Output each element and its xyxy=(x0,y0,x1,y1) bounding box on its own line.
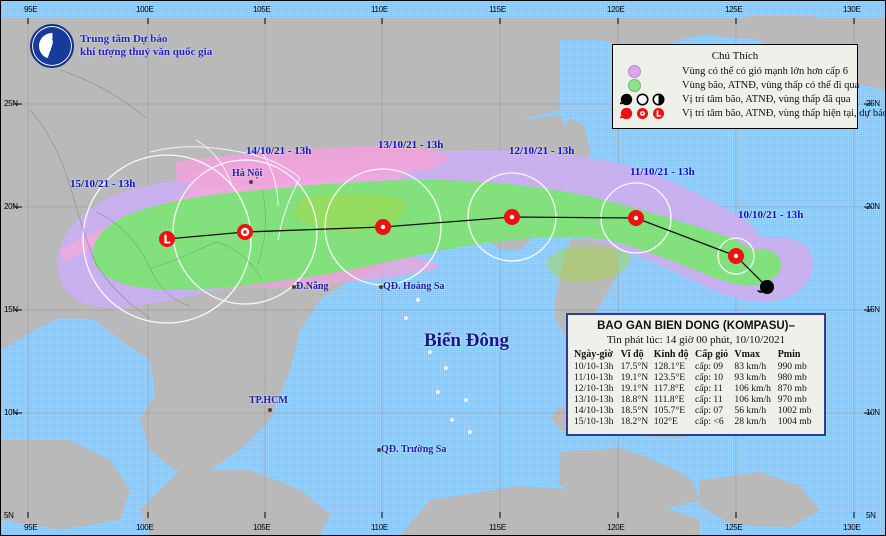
city-dot-hoangsa xyxy=(379,285,383,289)
table-row: 13/10-13h 18.8°N 111.8°E cấp: 11 106 km/… xyxy=(574,394,818,405)
sea-name-label: Biển Đông xyxy=(424,330,509,352)
col-date: Ngày-giờ xyxy=(574,349,621,361)
agency-logo-text: Trung tâm Dự báo khí tượng thuỷ văn quốc… xyxy=(80,33,212,59)
cell-vmax: 106 km/h xyxy=(734,394,777,405)
storm-track-map: 15/10/21 - 13h 14/10/21 - 13h 13/10/21 -… xyxy=(0,0,886,536)
cell-lat: 19.1°N xyxy=(621,383,654,394)
lon-label-bot-130: 130E xyxy=(843,523,860,532)
legend-row-wind-zone: Vùng có thể có gió mạnh lớn hơn cấp 6 xyxy=(620,65,850,78)
cell-pmin: 980 mb xyxy=(778,372,818,383)
lon-label-top-120: 120E xyxy=(607,5,624,14)
cell-pmin: 990 mb xyxy=(778,361,818,372)
lon-label-top-100: 100E xyxy=(136,5,153,14)
agency-name-line2: khí tượng thuỷ văn quốc gia xyxy=(80,46,212,59)
lon-label-bot-115: 115E xyxy=(489,523,506,532)
lon-label-top-110: 110E xyxy=(371,5,388,14)
table-row: 15/10-13h 18.2°N 102°E cấp: <6 28 km/h 1… xyxy=(574,416,818,427)
cell-vmax: 83 km/h xyxy=(734,361,777,372)
lat-label-left-10: 10N xyxy=(4,408,18,417)
lon-label-bot-95: 95E xyxy=(24,523,37,532)
legend-text-current-position: Vị trí tâm bão, ATNĐ, vùng thấp hiện tại… xyxy=(682,108,886,119)
lon-label-bot-100: 100E xyxy=(136,523,153,532)
col-vmax: Vmax xyxy=(734,349,777,361)
city-dot-tphcm xyxy=(268,408,272,412)
agency-seal-icon xyxy=(30,24,74,68)
col-lon: Kinh độ xyxy=(654,349,695,361)
track-date-label-10: 10/10/21 - 13h xyxy=(738,209,803,221)
cell-lat: 18.5°N xyxy=(621,405,654,416)
agency-logo: Trung tâm Dự báo khí tượng thuỷ văn quốc… xyxy=(30,24,212,68)
lat-label-left-15: 15N xyxy=(4,305,18,314)
city-label-hoangsa: QĐ. Hoàng Sa xyxy=(383,281,444,292)
cell-pmin: 1004 mb xyxy=(778,416,818,427)
bulletin-time: Tin phát lúc: 14 giờ 00 phút, 10/10/2021 xyxy=(574,334,818,346)
cell-lat: 19.1°N xyxy=(621,372,654,383)
city-dot-truongsa xyxy=(377,448,381,452)
cell-cap: cấp: 09 xyxy=(695,361,734,372)
col-lat: Vĩ độ xyxy=(621,349,654,361)
legend-text-wind-zone: Vùng có thể có gió mạnh lớn hơn cấp 6 xyxy=(682,66,848,77)
lon-label-top-95: 95E xyxy=(24,5,37,14)
cell-lat: 18.8°N xyxy=(621,394,654,405)
city-label-tphcm: TP.HCM xyxy=(249,395,288,406)
cell-cap: cấp: 11 xyxy=(695,394,734,405)
legend-text-track-zone: Vùng bão, ATNĐ, vùng thấp có thể đi qua xyxy=(682,80,859,91)
table-row: 14/10-13h 18.5°N 105.7°E cấp: 07 56 km/h… xyxy=(574,405,818,416)
cell-date: 13/10-13h xyxy=(574,394,621,405)
city-dot-hanoi xyxy=(249,180,253,184)
lon-label-bot-105: 105E xyxy=(253,523,270,532)
red-circle-dot-icon xyxy=(636,107,649,120)
cell-lat: 18.2°N xyxy=(621,416,654,427)
lat-label-right-25: 25N xyxy=(866,99,880,108)
track-date-label-13: 13/10/21 - 13h xyxy=(378,139,443,151)
storm-name-title: BAO GAN BIEN DONG (KOMPASU)– xyxy=(574,320,818,332)
cell-lat: 17.5°N xyxy=(621,361,654,372)
cell-pmin: 870 mb xyxy=(778,383,818,394)
lat-label-right-20: 20N xyxy=(866,202,880,211)
track-date-label-12: 12/10/21 - 13h xyxy=(509,145,574,157)
lon-label-top-125: 125E xyxy=(725,5,742,14)
forecast-table: Ngày-giờ Vĩ độ Kinh độ Cấp gió Vmax Pmin… xyxy=(574,349,818,427)
lon-label-top-115: 115E xyxy=(489,5,506,14)
lon-label-top-105: 105E xyxy=(253,5,270,14)
table-row: 10/10-13h 17.5°N 128.1°E cấp: 09 83 km/h… xyxy=(574,361,818,372)
lat-label-right-10: 10N xyxy=(866,408,880,417)
cell-lon: 117.8°E xyxy=(654,383,695,394)
cell-pmin: 970 mb xyxy=(778,394,818,405)
cell-vmax: 106 km/h xyxy=(734,383,777,394)
legend-box: Chú Thích Vùng có thể có gió mạnh lớn hơ… xyxy=(612,44,858,129)
lat-label-right-5: 5N xyxy=(866,511,876,520)
cell-date: 14/10-13h xyxy=(574,405,621,416)
storm-track-line xyxy=(167,217,767,287)
cell-lon: 123.5°E xyxy=(654,372,695,383)
cell-date: 12/10-13h xyxy=(574,383,621,394)
cell-date: 15/10-13h xyxy=(574,416,621,427)
cell-lon: 128.1°E xyxy=(654,361,695,372)
lat-label-right-15: 15N xyxy=(866,305,880,314)
col-pmin: Pmin xyxy=(778,349,818,361)
track-date-label-15: 15/10/21 - 13h xyxy=(70,178,135,190)
legend-row-current-position: Vị trí tâm bão, ATNĐ, vùng thấp hiện tại… xyxy=(620,107,850,120)
cell-lon: 105.7°E xyxy=(654,405,695,416)
lon-label-top-130: 130E xyxy=(843,5,860,14)
cell-cap: cấp: <6 xyxy=(695,416,734,427)
legend-row-past-position: Vị trí tâm bão, ATNĐ, vùng thấp đã qua xyxy=(620,93,850,106)
lat-label-left-20: 20N xyxy=(4,202,18,211)
cell-cap: cấp: 11 xyxy=(695,383,734,394)
lon-label-bot-125: 125E xyxy=(725,523,742,532)
legend-title: Chú Thích xyxy=(620,50,850,62)
cell-cap: cấp: 10 xyxy=(695,372,734,383)
cell-cap: cấp: 07 xyxy=(695,405,734,416)
city-label-danang: Đ.Nẵng xyxy=(296,281,329,292)
track-date-label-14: 14/10/21 - 13h xyxy=(246,145,311,157)
cell-date: 11/10-13h xyxy=(574,372,621,383)
table-row: 12/10-13h 19.1°N 117.8°E cấp: 11 106 km/… xyxy=(574,383,818,394)
green-circle-icon xyxy=(628,79,641,92)
table-row: 11/10-13h 19.1°N 123.5°E cấp: 10 93 km/h… xyxy=(574,372,818,383)
black-half-circle-icon xyxy=(652,93,665,106)
legend-row-track-zone: Vùng bão, ATNĐ, vùng thấp có thể đi qua xyxy=(620,79,850,92)
cell-pmin: 1002 mb xyxy=(778,405,818,416)
cell-vmax: 93 km/h xyxy=(734,372,777,383)
agency-name-line1: Trung tâm Dự báo xyxy=(80,33,212,46)
storm-info-panel: BAO GAN BIEN DONG (KOMPASU)– Tin phát lú… xyxy=(566,313,826,436)
legend-text-past-position: Vị trí tâm bão, ATNĐ, vùng thấp đã qua xyxy=(682,94,851,105)
lat-label-left-5: 5N xyxy=(4,511,14,520)
col-cap: Cấp gió xyxy=(695,349,734,361)
cell-lon: 102°E xyxy=(654,416,695,427)
purple-circle-icon xyxy=(628,65,641,78)
black-circle-outline-icon xyxy=(636,93,649,106)
city-label-hanoi: Hà Nội xyxy=(232,168,262,179)
forecast-position-markers xyxy=(159,209,744,264)
cell-vmax: 56 km/h xyxy=(734,405,777,416)
cell-date: 10/10-13h xyxy=(574,361,621,372)
track-date-label-11: 11/10/21 - 13h xyxy=(630,166,695,178)
lon-label-bot-120: 120E xyxy=(607,523,624,532)
past-position-marker xyxy=(757,280,774,294)
lon-label-bot-110: 110E xyxy=(371,523,388,532)
city-label-truongsa: QĐ. Trường Sa xyxy=(381,444,446,455)
black-storm-swirl-icon xyxy=(620,93,633,106)
red-low-circle-icon xyxy=(652,107,665,120)
cell-vmax: 28 km/h xyxy=(734,416,777,427)
red-storm-swirl-icon xyxy=(620,107,633,120)
table-header-row: Ngày-giờ Vĩ độ Kinh độ Cấp gió Vmax Pmin xyxy=(574,349,818,361)
city-dot-danang xyxy=(292,285,296,289)
cell-lon: 111.8°E xyxy=(654,394,695,405)
lat-label-left-25: 25N xyxy=(4,99,18,108)
